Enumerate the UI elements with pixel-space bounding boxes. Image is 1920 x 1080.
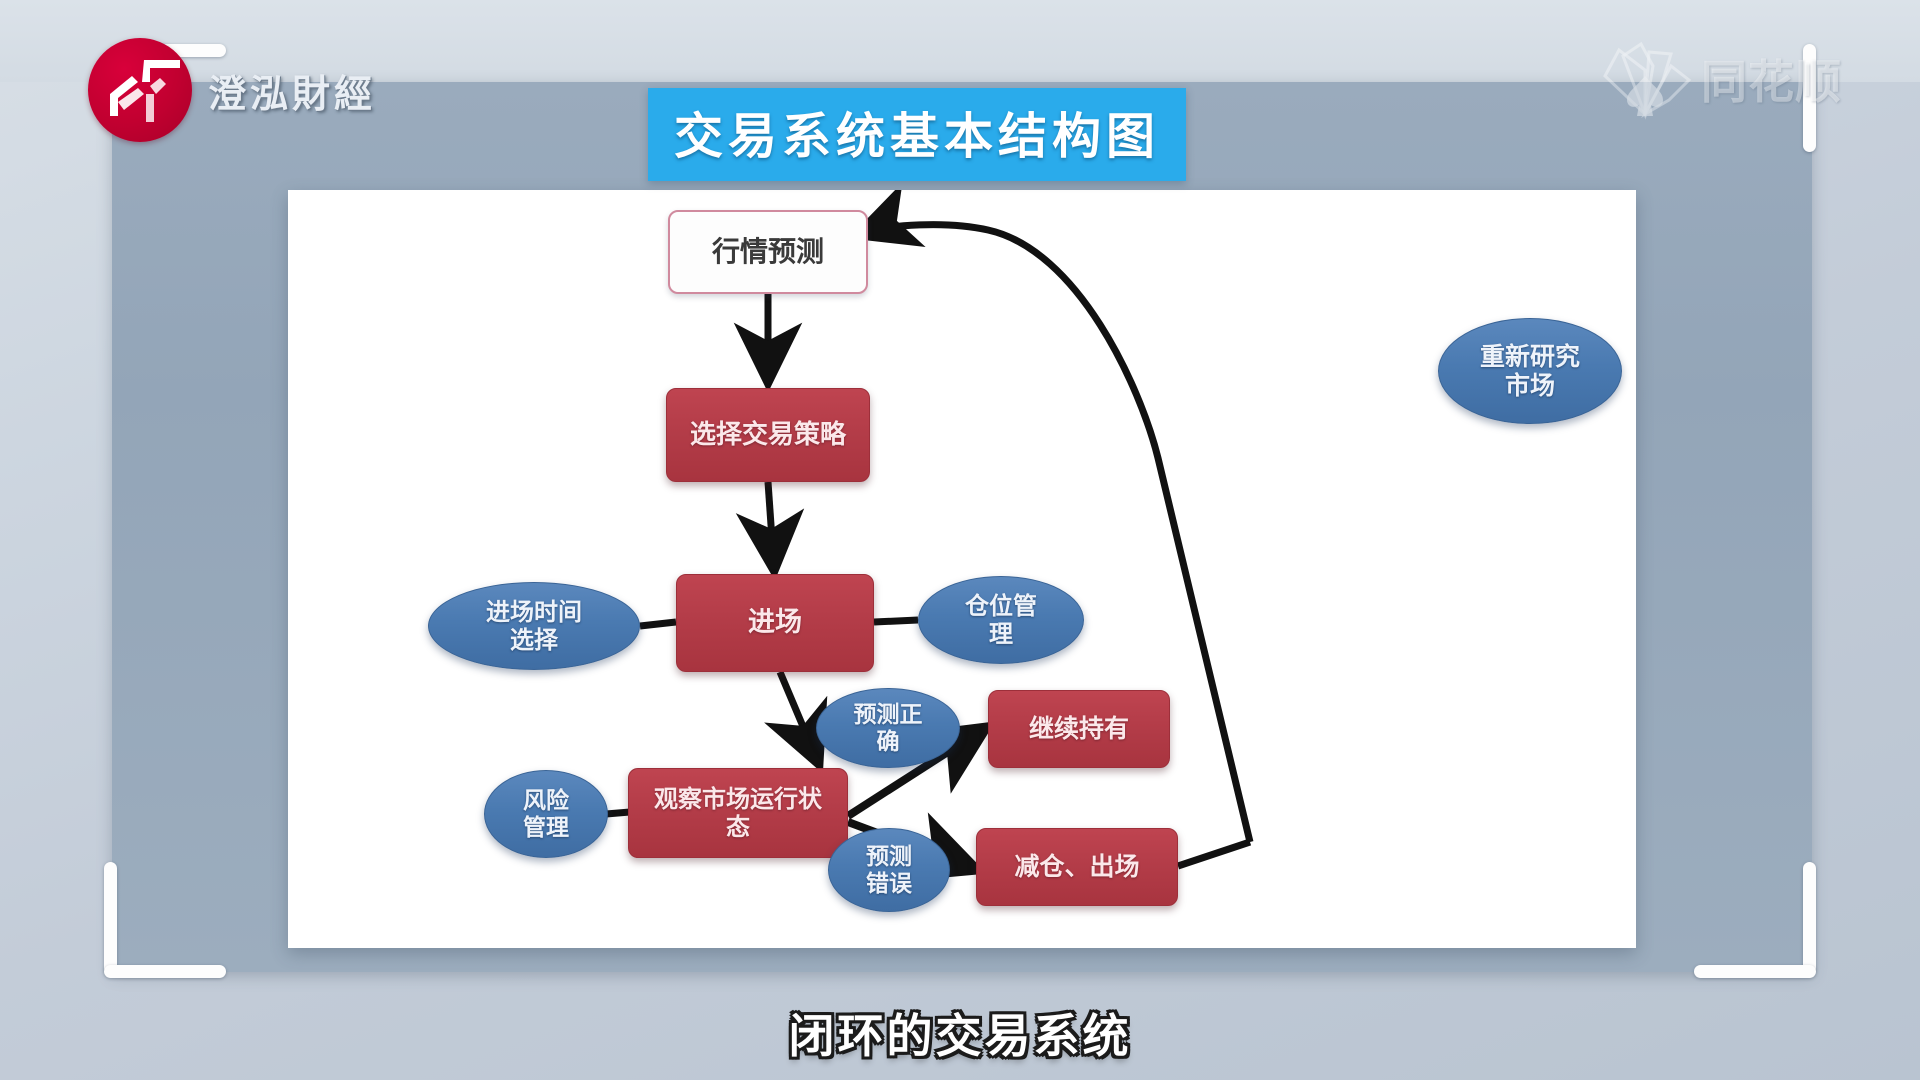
fan-spade-icon bbox=[1597, 36, 1693, 122]
node-continue-holding[interactable]: 继续持有 bbox=[988, 690, 1170, 768]
brand-name-label: 澄泓財經 bbox=[208, 63, 376, 118]
node-entry-timing-label: 进场时间 选择 bbox=[486, 598, 582, 655]
node-observe-market-label: 观察市场运行状 态 bbox=[654, 785, 822, 842]
flowchart-canvas: 行情预测 选择交易策略 进场 进场时间 选择 仓位管 理 观察市场运行状 态 风… bbox=[288, 190, 1636, 948]
node-reduce-exit-label: 减仓、出场 bbox=[1014, 852, 1139, 882]
node-forecast-correct-label: 预测正 确 bbox=[854, 701, 923, 755]
node-reduce-exit[interactable]: 减仓、出场 bbox=[976, 828, 1178, 906]
node-risk-management[interactable]: 风险 管理 bbox=[484, 770, 608, 858]
watermark: 同花顺 bbox=[1597, 36, 1842, 122]
watermark-label: 同花顺 bbox=[1701, 46, 1842, 112]
node-entry-timing[interactable]: 进场时间 选择 bbox=[428, 582, 640, 670]
node-forecast-label: 行情预测 bbox=[712, 235, 824, 268]
caption: 闭环的交易系统 bbox=[0, 1000, 1920, 1066]
node-restudy-market-label: 重新研究 市场 bbox=[1480, 342, 1580, 401]
page-title: 交易系统基本结构图 bbox=[648, 88, 1186, 181]
page-title-text: 交易系统基本结构图 bbox=[674, 107, 1160, 165]
node-position-management-label: 仓位管 理 bbox=[965, 592, 1037, 649]
corner-bracket-bottom-right bbox=[1694, 862, 1816, 978]
node-forecast-wrong-label: 预测 错误 bbox=[866, 843, 912, 897]
brand-logo: 澄泓財經 bbox=[88, 38, 376, 142]
logo-mark-icon bbox=[88, 38, 192, 142]
corner-bracket-bottom-left bbox=[104, 862, 226, 978]
node-forecast-wrong[interactable]: 预测 错误 bbox=[828, 828, 950, 912]
node-entry[interactable]: 进场 bbox=[676, 574, 874, 672]
caption-text: 闭环的交易系统 bbox=[789, 1009, 1132, 1063]
node-position-management[interactable]: 仓位管 理 bbox=[918, 576, 1084, 664]
node-continue-holding-label: 继续持有 bbox=[1029, 714, 1129, 744]
node-forecast-correct[interactable]: 预测正 确 bbox=[816, 688, 960, 768]
node-entry-label: 进场 bbox=[748, 607, 802, 639]
node-forecast[interactable]: 行情预测 bbox=[668, 210, 868, 294]
node-restudy-market[interactable]: 重新研究 市场 bbox=[1438, 318, 1622, 424]
node-select-strategy[interactable]: 选择交易策略 bbox=[666, 388, 870, 482]
node-select-strategy-label: 选择交易策略 bbox=[690, 420, 846, 451]
node-observe-market[interactable]: 观察市场运行状 态 bbox=[628, 768, 848, 858]
node-risk-management-label: 风险 管理 bbox=[523, 787, 569, 841]
